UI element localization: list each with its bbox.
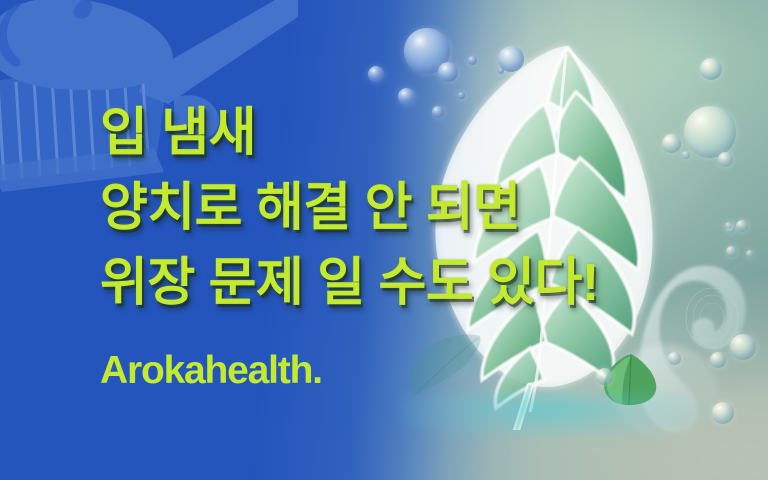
brand-name: Arokahealth.	[100, 348, 322, 394]
headline-block: 입 냄새 양치로 해결 안 되면 위장 문제 일 수도 있다!	[100, 96, 720, 321]
headline-line-2: 양치로 해결 안 되면	[100, 171, 720, 246]
promo-banner: 입 냄새 양치로 해결 안 되면 위장 문제 일 수도 있다! Arokahea…	[0, 0, 768, 480]
mint-leaf-faint-icon	[404, 330, 488, 400]
headline-line-1: 입 냄새	[100, 96, 720, 171]
headline-line-3: 위장 문제 일 수도 있다!	[100, 246, 720, 321]
